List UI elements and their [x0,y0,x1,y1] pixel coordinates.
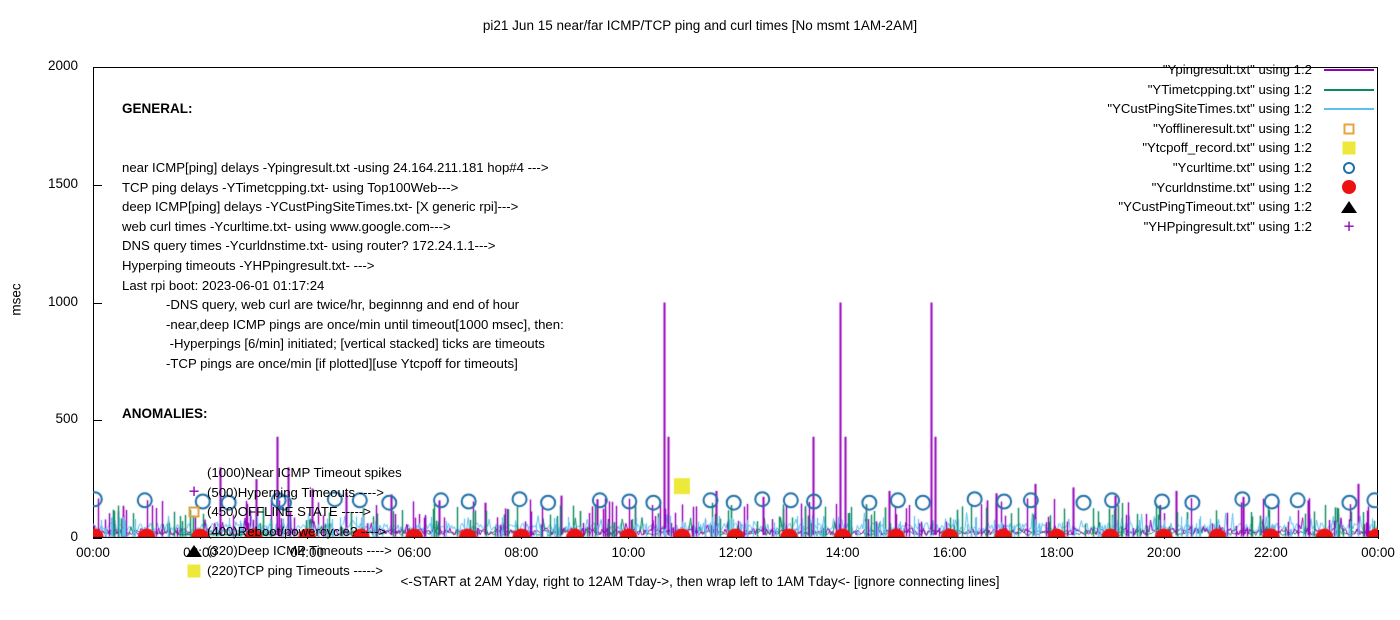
x-tick-label: 14:00 [808,545,878,560]
x-tick-mark [1378,530,1379,539]
y-tick-label: 500 [32,411,78,426]
legend-label: "YCustPingTimeout.txt" using 1:2 [1118,197,1312,217]
square-open-icon [1344,123,1355,134]
line-icon [1324,89,1374,91]
anomaly-item: (320)Deep ICMP Timeouts ----> [122,541,208,561]
legend-line-swatch [1320,80,1378,100]
legend-point-swatch: + [1320,217,1378,237]
legend-label: "Ypingresult.txt" using 1:2 [1163,60,1312,80]
general-line: web curl times -Ycurltime.txt- using www… [122,217,564,237]
anomaly-label: (320)Deep ICMP Timeouts ----> [207,541,392,561]
legend-point-swatch [1320,197,1378,217]
x-tick-label: 00:00 [1343,545,1400,560]
chart-page: pi21 Jun 15 near/far ICMP/TCP ping and c… [0,0,1400,600]
legend-item[interactable]: "YCustPingTimeout.txt" using 1:2 [1107,197,1378,217]
line-icon [1324,69,1374,71]
x-tick-label: 16:00 [915,545,985,560]
plus-icon: + [184,483,204,503]
legend-item[interactable]: "YHPpingresult.txt" using 1:2+ [1107,217,1378,237]
anomaly-item: (1000)Near ICMP Timeout spikes [122,463,208,483]
legend-label: "YHPpingresult.txt" using 1:2 [1144,217,1312,237]
legend-label: "Ycurldnstime.txt" using 1:2 [1152,178,1312,198]
circle-open-icon [1343,162,1355,174]
anomaly-label: (450)OFFLINE STATE -----> [207,502,371,522]
legend-label: "YCustPingSiteTimes.txt" using 1:2 [1107,99,1312,119]
legend-item[interactable]: "Ytcpoff_record.txt" using 1:2 [1107,138,1378,158]
legend-label: "Ycurltime.txt" using 1:2 [1173,158,1312,178]
line-icon [1324,108,1374,110]
general-line: near ICMP[ping] delays -Ypingresult.txt … [122,158,564,178]
legend-label: "Yofflineresult.txt" using 1:2 [1153,119,1312,139]
x-tick-label: 20:00 [1129,545,1199,560]
legend-item[interactable]: "Ycurldnstime.txt" using 1:2 [1107,178,1378,198]
anomaly-item: (400)Reboot/powercycle? ----> [122,522,208,542]
circle-filled-icon [1342,180,1356,194]
x-tick-label: 12:00 [701,545,771,560]
x-tick-label: 08:00 [486,545,556,560]
anomaly-label: (500)Hyperping Timeouts ----> [207,483,384,503]
page-title: pi21 Jun 15 near/far ICMP/TCP ping and c… [0,18,1400,33]
general-line: TCP ping delays -YTimetcpping.txt- using… [122,178,564,198]
general-line: -near,deep ICMP pings are once/min until… [122,315,564,335]
square-filled-icon [1343,142,1356,155]
general-line: -Hyperpings [6/min] initiated; [vertical… [122,334,564,354]
general-annotation-block: GENERAL: near ICMP[ping] delays -Ypingre… [122,60,564,413]
legend-point-swatch [1320,158,1378,178]
x-tick-label: 10:00 [593,545,663,560]
general-line: deep ICMP[ping] delays -YCustPingSiteTim… [122,197,564,217]
x-tick-label: 18:00 [1022,545,1092,560]
anomaly-item: +(500)Hyperping Timeouts ----> [122,483,208,503]
triangle-icon [184,541,204,561]
legend-item[interactable]: "Yofflineresult.txt" using 1:2 [1107,119,1378,139]
anomaly-label: (1000)Near ICMP Timeout spikes [207,463,402,483]
y-tick-label: 1000 [32,294,78,309]
legend-line-swatch [1320,99,1378,119]
y-tick-label: 1500 [32,176,78,191]
legend-label: "Ytcpoff_record.txt" using 1:2 [1142,138,1312,158]
general-line: Hyperping timeouts -YHPpingresult.txt- -… [122,256,564,276]
y-tick-label: 0 [32,529,78,544]
square-open-icon [184,502,204,522]
legend-item[interactable]: "YCustPingSiteTimes.txt" using 1:2 [1107,99,1378,119]
y-tick-mark [93,538,102,539]
legend-label: "YTimetcpping.txt" using 1:2 [1148,80,1312,100]
legend-point-swatch [1320,119,1378,139]
legend-line-swatch [1320,60,1378,80]
anomaly-item: (450)OFFLINE STATE -----> [122,502,208,522]
legend-item[interactable]: "Ycurltime.txt" using 1:2 [1107,158,1378,178]
legend-point-swatch [1320,138,1378,158]
general-line: DNS query times -Ycurldnstime.txt- using… [122,236,564,256]
legend-item[interactable]: "YTimetcpping.txt" using 1:2 [1107,80,1378,100]
general-line: Last rpi boot: 2023-06-01 01:17:24 [122,276,564,296]
y-axis-label: msec [9,270,24,330]
general-header: GENERAL: [122,99,564,119]
general-line: -DNS query, web curl are twice/hr, begin… [122,295,564,315]
legend-point-swatch [1320,178,1378,198]
legend-item[interactable]: "Ypingresult.txt" using 1:2 [1107,60,1378,80]
anomaly-label: (400)Reboot/powercycle? ----> [207,522,386,542]
triangle-icon [1341,201,1357,213]
plus-icon: + [1343,217,1354,236]
x-tick-label: 22:00 [1236,545,1306,560]
no-symbol [184,522,204,542]
y-tick-label: 2000 [32,58,78,73]
no-symbol [184,463,204,483]
x-tick-label: 00:00 [58,545,128,560]
legend: "Ypingresult.txt" using 1:2"YTimetcpping… [1107,60,1378,236]
anomalies-header: ANOMALIES: [122,404,208,424]
x-axis-caption: <-START at 2AM Yday, right to 12AM Tday-… [0,574,1400,589]
